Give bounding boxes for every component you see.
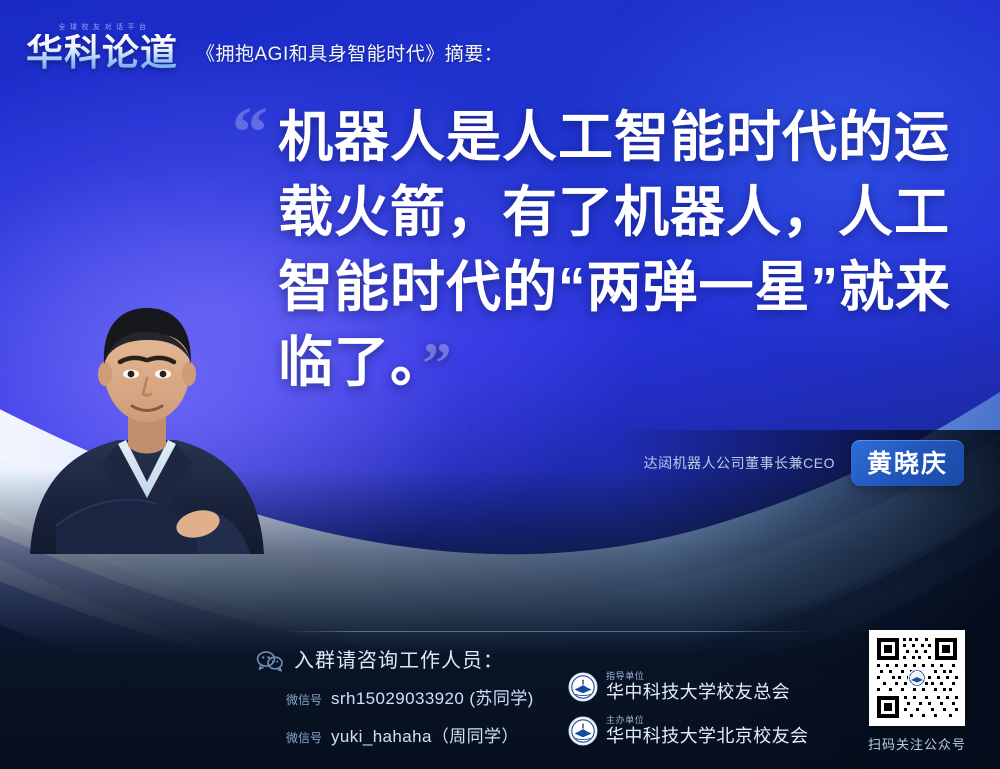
speaker-name-badge: 黄晓庆: [851, 440, 964, 486]
organization-name: 华中科技大学北京校友会: [606, 727, 808, 746]
contact-value[interactable]: srh15029033920 (苏同学): [331, 684, 534, 709]
organization-kind: 指导单位: [606, 672, 790, 681]
attribution: 达闼机器人公司董事长兼CEO 黄晓庆: [644, 440, 964, 486]
qr-section: 扫码关注公众号: [858, 630, 976, 753]
footer-divider: [285, 631, 815, 632]
organization-row: 指导单位 华中科技大学校友总会: [568, 672, 790, 702]
footer-heading: 入群请咨询工作人员：: [294, 644, 504, 673]
hust-emblem-icon: [568, 672, 598, 702]
footer-section: 入群请咨询工作人员： 微信号 srh15029033920 (苏同学) 微信号 …: [250, 644, 990, 759]
poster-canvas: 全球校友对话平台 华科论道 《拥抱AGI和具身智能时代》摘要： “ 机器人是人工…: [0, 0, 1000, 769]
quote-open-mark: “: [232, 96, 268, 168]
organization-kind: 主办单位: [606, 716, 808, 725]
speaker-portrait: [22, 286, 272, 571]
organization-text: 指导单位 华中科技大学校友总会: [606, 672, 790, 702]
quote-line: 机器人是人工智能时代的运: [278, 100, 954, 175]
wechat-icon: [256, 650, 284, 672]
speaker-role: 达闼机器人公司董事长兼CEO: [644, 453, 835, 473]
organization-row: 主办单位 华中科技大学北京校友会: [568, 716, 808, 746]
contact-row: 微信号 yuki_hahaha（周同学）: [286, 722, 519, 747]
hust-emblem-icon: [568, 716, 598, 746]
logo-tagline: 全球校友对话平台: [59, 22, 151, 32]
qr-code-icon[interactable]: [869, 630, 965, 726]
quote-close-mark: ”: [423, 331, 453, 396]
organization-name: 华中科技大学校友总会: [606, 683, 790, 702]
logo-wordmark: 华科论道: [26, 34, 178, 71]
page-title: 《拥抱AGI和具身智能时代》摘要：: [196, 39, 503, 66]
brand-logo[interactable]: 全球校友对话平台 华科论道: [26, 22, 178, 71]
quote-line: 智能时代的“两弹一星”就来: [278, 250, 954, 325]
quote-text-block: 机器人是人工智能时代的运 载火箭，有了机器人，人工 智能时代的“两弹一星”就来 …: [278, 100, 954, 401]
contact-value[interactable]: yuki_hahaha（周同学）: [331, 722, 519, 747]
header-bar: 全球校友对话平台 华科论道 《拥抱AGI和具身智能时代》摘要：: [0, 0, 1000, 92]
quote-line-last: 临了。”: [278, 325, 954, 401]
quote-line: 载火箭，有了机器人，人工: [278, 175, 954, 250]
contact-label: 微信号: [286, 729, 322, 746]
contact-label: 微信号: [286, 691, 322, 708]
qr-caption: 扫码关注公众号: [868, 734, 966, 753]
quote-line-text: 临了。: [278, 331, 419, 393]
organization-text: 主办单位 华中科技大学北京校友会: [606, 716, 808, 746]
contact-row: 微信号 srh15029033920 (苏同学): [286, 684, 534, 709]
